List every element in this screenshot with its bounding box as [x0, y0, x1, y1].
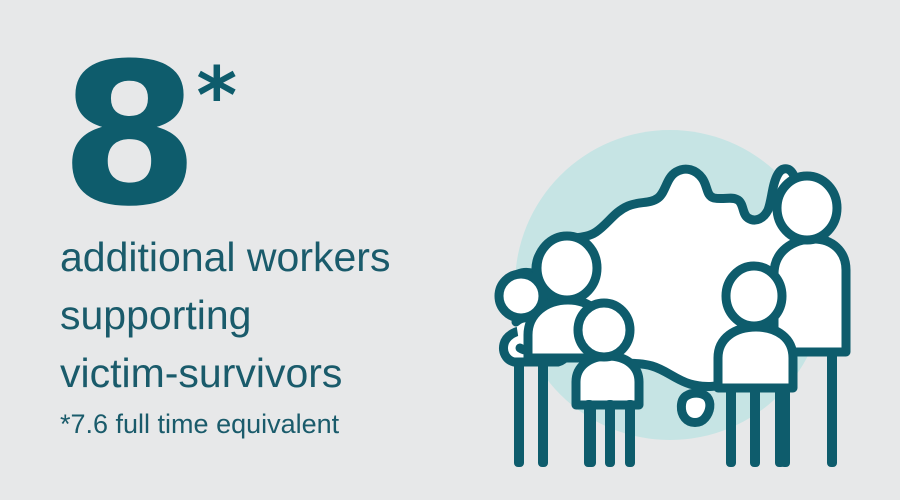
stat-number: 8 [60, 52, 193, 221]
footnote-text: *7.6 full time equivalent [60, 407, 339, 442]
headline-line-3: victim-survivors [60, 344, 490, 402]
adult-left-head [537, 236, 597, 300]
child-centre-left-leg-2 [605, 400, 615, 467]
headline: additional workers supporting victim-sur… [60, 228, 490, 403]
child-centre-left-torso [576, 356, 639, 405]
figure-child-centre-left [576, 303, 639, 467]
child-centre-right-leg-3 [775, 384, 785, 467]
headline-line-2: supporting [60, 286, 490, 344]
text-block: 8 * additional workers supporting victim… [0, 0, 500, 500]
adult-right-head [777, 176, 837, 240]
stat-row: 8 * [60, 52, 237, 217]
child-centre-right-leg-2 [750, 384, 760, 467]
child-centre-left-leg-3 [625, 400, 635, 467]
adult-left-leg-1 [538, 358, 548, 467]
adult-right-leg-2 [827, 348, 837, 467]
figure-child-centre-right [718, 266, 793, 467]
infographic-canvas: 8 * additional workers supporting victim… [0, 0, 900, 500]
child-centre-right-torso [718, 327, 793, 388]
headline-line-1: additional workers [60, 228, 490, 286]
child-centre-right-leg-1 [726, 384, 736, 467]
child-centre-right-head [726, 266, 782, 326]
stat-asterisk-marker: * [196, 58, 237, 136]
child-centre-left-leg-1 [584, 400, 594, 467]
tasmania-map-outline [681, 393, 710, 422]
child-centre-left-head [578, 303, 630, 357]
australia-map-people-illustration [480, 100, 860, 470]
adult-holding-baby-leg [514, 362, 524, 467]
